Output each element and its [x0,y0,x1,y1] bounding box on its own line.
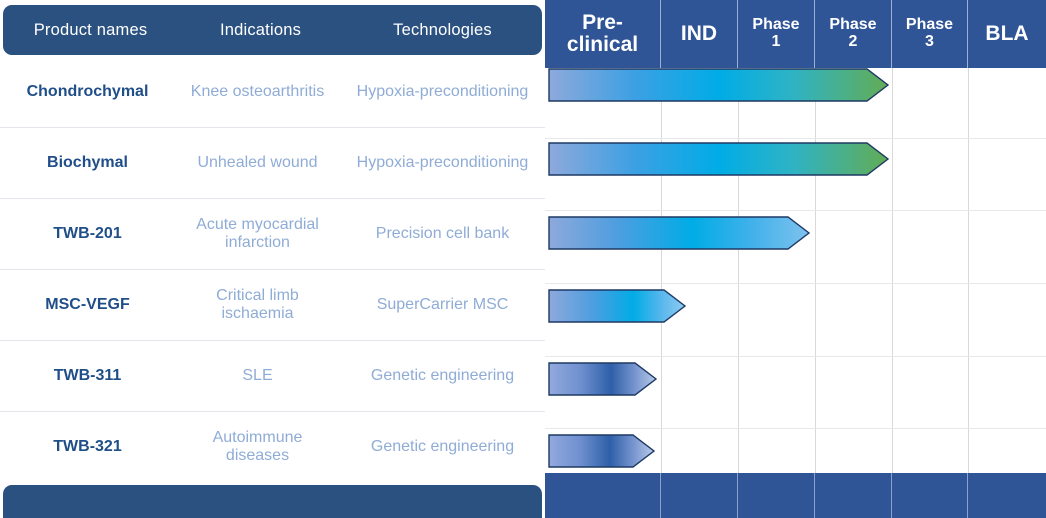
grid-line-vertical [815,68,816,473]
product-name: TWB-321 [0,438,175,456]
pipeline-bar-twb-321[interactable] [549,435,654,467]
phase-header-bla[interactable]: BLA [968,0,1046,68]
phase-footer-cell [661,473,738,518]
phase-footer-cell [545,473,661,518]
product-info-panel: Product names Indications Technologies C… [0,0,545,518]
indication: Unhealed wound [175,154,340,172]
pipeline-grid [545,68,1046,473]
grid-line-horizontal [545,138,1046,139]
indication: Acute myocardial infarction [175,216,340,252]
phase-header-phase-3[interactable]: Phase 3 [892,0,968,68]
phase-header-phase-1-line2: 1 [752,34,799,51]
grid-line-horizontal [545,356,1046,357]
phase-header-phase-1[interactable]: Phase 1 [738,0,815,68]
phase-footer-cell [892,473,968,518]
phase-header-preclinical-line2: clinical [567,34,638,56]
product-name: TWB-311 [0,367,175,385]
grid-line-horizontal [545,210,1046,211]
pipeline-bar-twb-201[interactable] [549,217,809,249]
grid-line-vertical [661,68,662,473]
phase-footer-cell [968,473,1046,518]
phase-header-preclinical-line1: Pre- [567,12,638,34]
table-row[interactable]: TWB-311 SLE Genetic engineering [0,340,545,411]
indication: Knee osteoarthritis [175,83,340,101]
technology: Hypoxia-preconditioning [340,83,545,101]
phase-header-phase-2-line1: Phase [829,17,876,34]
phase-header-phase-1-line1: Phase [752,17,799,34]
technology: Genetic engineering [340,438,545,456]
phase-header-ind[interactable]: IND [661,0,738,68]
product-name: TWB-201 [0,225,175,243]
technology: SuperCarrier MSC [340,296,545,314]
pipeline-bar-msc-vegf[interactable] [549,290,685,322]
phase-header-phase-2-line2: 2 [829,34,876,51]
pipeline-bar-chondrochymal[interactable] [549,69,888,101]
table-row[interactable]: Chondrochymal Knee osteoarthritis Hypoxi… [0,57,545,127]
pipeline-bar-biochymal[interactable] [549,143,888,175]
product-rows: Chondrochymal Knee osteoarthritis Hypoxi… [0,57,545,477]
product-name: MSC-VEGF [0,296,175,314]
table-row[interactable]: TWB-201 Acute myocardial infarction Prec… [0,198,545,269]
column-header-product-names: Product names [3,21,178,40]
grid-line-vertical [968,68,969,473]
indication: Critical limb ischaemia [175,287,340,323]
grid-line-vertical [892,68,893,473]
column-header-technologies: Technologies [343,21,542,40]
grid-line-horizontal [545,428,1046,429]
product-name: Chondrochymal [0,83,175,101]
left-table-header: Product names Indications Technologies [3,5,542,55]
phase-footer-bar [545,473,1046,518]
table-row[interactable]: Biochymal Unhealed wound Hypoxia-precond… [0,127,545,198]
phase-header-phase-2[interactable]: Phase 2 [815,0,892,68]
phase-column-headers: Pre- clinical IND Phase 1 Phase 2 Phase … [545,0,1046,68]
technology: Hypoxia-preconditioning [340,154,545,172]
table-row[interactable]: TWB-321 Autoimmune diseases Genetic engi… [0,411,545,482]
phase-footer-cell [738,473,815,518]
table-row[interactable]: MSC-VEGF Critical limb ischaemia SuperCa… [0,269,545,340]
phase-header-phase-3-line2: 3 [906,34,953,51]
indication: Autoimmune diseases [175,429,340,465]
grid-line-horizontal [545,283,1046,284]
column-header-indications: Indications [178,21,343,40]
left-table-footer-bar [3,485,542,518]
technology: Genetic engineering [340,367,545,385]
technology: Precision cell bank [340,225,545,243]
phase-header-bla-label: BLA [985,23,1028,45]
phase-header-phase-3-line1: Phase [906,17,953,34]
phase-footer-cell [815,473,892,518]
indication: SLE [175,367,340,385]
grid-line-vertical [738,68,739,473]
phase-header-preclinical[interactable]: Pre- clinical [545,0,661,68]
product-name: Biochymal [0,154,175,172]
phase-header-ind-label: IND [681,23,717,45]
pipeline-chart-panel: Pre- clinical IND Phase 1 Phase 2 Phase … [545,0,1046,518]
pipeline-bar-twb-311[interactable] [549,363,656,395]
